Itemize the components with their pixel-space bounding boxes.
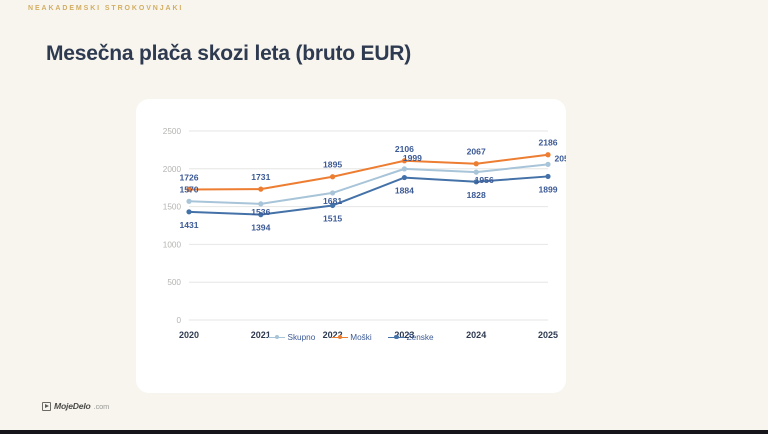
series-point <box>258 201 263 206</box>
legend-label: Skupno <box>287 333 315 342</box>
chart-series-group <box>186 152 550 217</box>
series-point <box>330 190 335 195</box>
series-point <box>186 199 191 204</box>
chart-gridlines <box>189 131 548 320</box>
data-point-label: 1828 <box>467 190 486 200</box>
y-tick-label: 1000 <box>163 240 182 249</box>
eyebrow-label: NEAKADEMSKI STROKOVNJAKI <box>28 5 183 12</box>
data-point-label: 1431 <box>179 220 198 230</box>
data-point-label: 2106 <box>395 144 414 154</box>
data-point-label: 1999 <box>403 153 422 163</box>
data-point-label: 1681 <box>323 196 342 206</box>
data-point-label: 1899 <box>538 184 557 194</box>
series-point <box>545 152 550 157</box>
legend-item-ženske[interactable]: Ženske <box>388 333 434 342</box>
page-title: Mesečna plača skozi leta (bruto EUR) <box>46 42 411 66</box>
logo-name: MojeDelo <box>54 401 91 411</box>
series-point <box>258 187 263 192</box>
series-point <box>402 166 407 171</box>
legend-swatch-icon <box>268 334 285 342</box>
legend-swatch-icon <box>331 334 348 342</box>
series-line <box>189 155 548 190</box>
series-point <box>545 162 550 167</box>
y-tick-label: 2500 <box>163 127 182 136</box>
series-point <box>330 174 335 179</box>
logo-tld: .com <box>94 402 110 411</box>
legend-label: Moški <box>350 333 371 342</box>
y-tick-label: 500 <box>167 278 181 287</box>
data-point-label: 1536 <box>251 207 270 217</box>
data-point-label: 1726 <box>179 173 198 183</box>
chart-card: 05001000150020002500 2020202120222023202… <box>136 99 566 393</box>
series-line <box>189 164 548 204</box>
data-point-label: 1731 <box>251 172 270 182</box>
legend-item-moški[interactable]: Moški <box>331 333 371 342</box>
y-tick-label: 0 <box>176 316 181 325</box>
data-point-label: 2059 <box>554 153 566 163</box>
data-point-label: 1884 <box>395 186 414 196</box>
y-tick-label: 1500 <box>163 203 182 212</box>
data-point-label: 2186 <box>538 138 557 148</box>
series-line <box>189 176 548 214</box>
chart-svg: 05001000150020002500 2020202120222023202… <box>136 99 566 393</box>
chart-legend: SkupnoMoškiŽenske <box>136 333 566 342</box>
bottom-bar <box>0 430 768 434</box>
line-chart: 05001000150020002500 2020202120222023202… <box>136 99 566 393</box>
data-point-label: 1570 <box>179 184 198 194</box>
data-point-label: 1956 <box>475 175 494 185</box>
eyebrow-banner: NEAKADEMSKI STROKOVNJAKI <box>0 0 768 16</box>
legend-label: Ženske <box>407 333 434 342</box>
data-point-label: 1515 <box>323 213 342 223</box>
series-point <box>545 174 550 179</box>
series-point <box>186 209 191 214</box>
data-point-label: 1394 <box>251 223 270 233</box>
data-point-label: 2067 <box>467 147 486 157</box>
series-point <box>402 175 407 180</box>
chart-data-labels: 1570153616811999195620591726173118952106… <box>179 138 566 233</box>
series-point <box>474 170 479 175</box>
data-point-label: 1895 <box>323 160 342 170</box>
legend-item-skupno[interactable]: Skupno <box>268 333 315 342</box>
mojedelo-logo: MojeDelo .com <box>42 401 109 411</box>
series-point <box>474 161 479 166</box>
play-badge-icon <box>42 402 51 411</box>
legend-swatch-icon <box>388 334 405 342</box>
